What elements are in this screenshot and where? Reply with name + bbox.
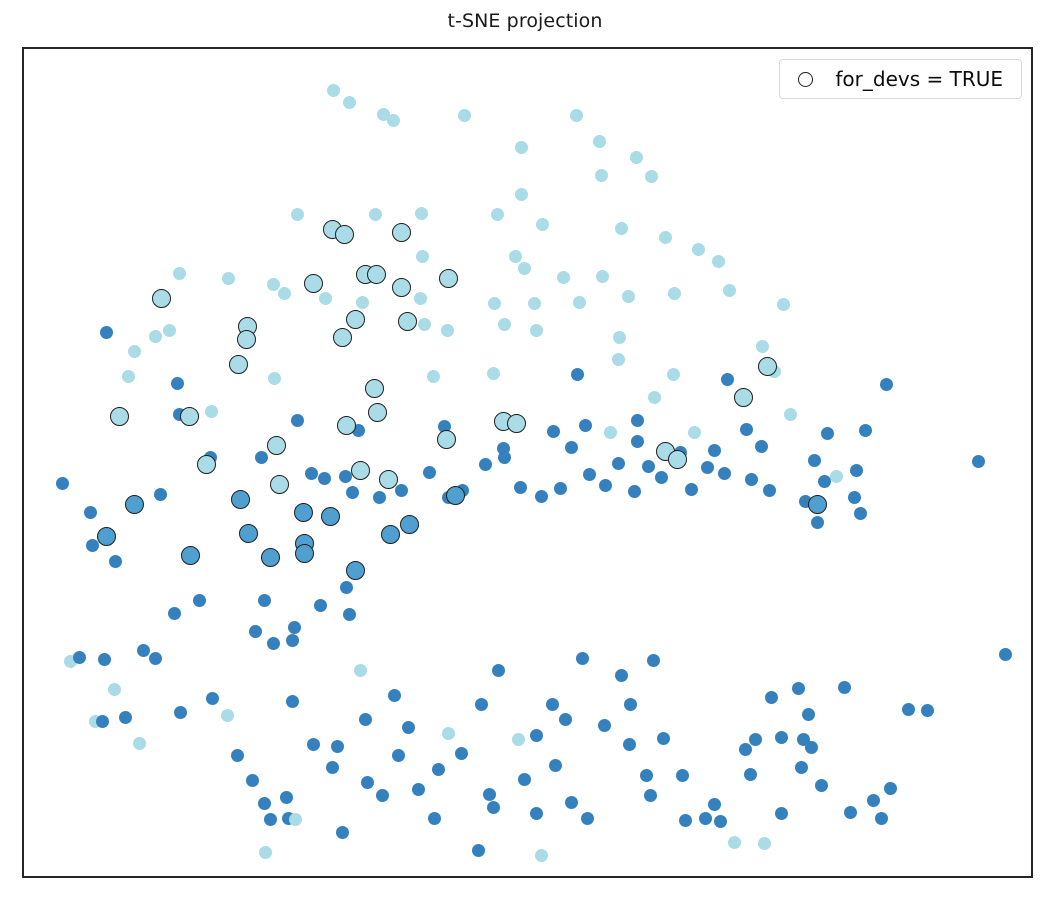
scatter-point (472, 844, 485, 857)
scatter-point (714, 815, 727, 828)
scatter-point (509, 250, 522, 263)
scatter-point (775, 807, 788, 820)
scatter-point (356, 296, 369, 309)
scatter-point (173, 267, 186, 280)
scatter-point (415, 207, 428, 220)
scatter-point (168, 607, 181, 620)
scatter-point (498, 318, 511, 331)
scatter-point-highlighted (346, 561, 365, 580)
scatter-point (972, 455, 985, 468)
scatter-point-highlighted (180, 407, 199, 426)
scatter-point (128, 345, 141, 358)
scatter-point-highlighted (365, 379, 384, 398)
plot-area: for_devs = TRUE (22, 47, 1033, 878)
scatter-point (530, 324, 543, 337)
scatter-point (549, 759, 562, 772)
scatter-point (319, 292, 332, 305)
scatter-point-highlighted (333, 328, 352, 347)
scatter-point (515, 141, 528, 154)
scatter-point (264, 813, 277, 826)
legend-entry-label: for_devs = TRUE (835, 67, 1007, 91)
scatter-point-highlighted (97, 527, 116, 546)
scatter-point (570, 109, 583, 122)
scatter-point (518, 773, 531, 786)
scatter-point (547, 425, 560, 438)
scatter-point (305, 467, 318, 480)
scatter-point (622, 290, 635, 303)
scatter-point-highlighted (346, 310, 365, 329)
scatter-point (149, 330, 162, 343)
scatter-point (108, 683, 121, 696)
scatter-point (428, 812, 441, 825)
scatter-point (291, 414, 304, 427)
scatter-point-highlighted (507, 414, 526, 433)
scatter-point (109, 555, 122, 568)
scatter-point (133, 737, 146, 750)
scatter-point (758, 837, 771, 850)
scatter-point (867, 794, 880, 807)
scatter-point-highlighted (379, 470, 398, 489)
scatter-point (902, 703, 915, 716)
scatter-point (777, 298, 790, 311)
scatter-point (612, 457, 625, 470)
scatter-point (581, 812, 594, 825)
scatter-point (286, 634, 299, 647)
scatter-point-highlighted (381, 525, 400, 544)
scatter-point (699, 812, 712, 825)
scatter-point (692, 243, 705, 256)
scatter-point (765, 691, 778, 704)
scatter-point-highlighted (368, 403, 387, 422)
scatter-point (56, 477, 69, 490)
scatter-point (815, 779, 828, 792)
scatter-point (554, 482, 567, 495)
scatter-point (414, 292, 427, 305)
scatter-point (359, 713, 372, 726)
scatter-point-highlighted (439, 269, 458, 288)
scatter-point (73, 651, 86, 664)
scatter-point (921, 704, 934, 717)
scatter-point (546, 698, 559, 711)
scatter-point (231, 749, 244, 762)
scatter-point (557, 271, 570, 284)
scatter-point-highlighted (337, 416, 356, 435)
scatter-point (122, 370, 135, 383)
scatter-point (286, 695, 299, 708)
scatter-point (667, 368, 680, 381)
scatter-point (278, 287, 291, 300)
scatter-point (432, 763, 445, 776)
scatter-point (631, 414, 644, 427)
scatter-point (193, 594, 206, 607)
scatter-point (205, 405, 218, 418)
scatter-point (811, 516, 824, 529)
scatter-point (565, 796, 578, 809)
scatter-point (268, 372, 281, 385)
scatter-point-highlighted (668, 450, 687, 469)
scatter-point (423, 466, 436, 479)
scatter-point (615, 222, 628, 235)
scatter-point (668, 287, 681, 300)
scatter-point (427, 370, 440, 383)
scatter-point (327, 84, 340, 97)
scatter-point-highlighted (734, 388, 753, 407)
scatter-point (246, 774, 259, 787)
scatter-point (418, 318, 431, 331)
scatter-point (535, 849, 548, 862)
scatter-point-highlighted (237, 330, 256, 349)
scatter-point (559, 713, 572, 726)
scatter-point (676, 769, 689, 782)
scatter-point (808, 454, 821, 467)
scatter-point (326, 761, 339, 774)
scatter-point (331, 740, 344, 753)
scatter-point-highlighted (392, 223, 411, 242)
scatter-point (573, 296, 586, 309)
scatter-point (339, 470, 352, 483)
legend[interactable]: for_devs = TRUE (779, 59, 1022, 99)
scatter-point (880, 378, 893, 391)
scatter-point (395, 484, 408, 497)
scatter-point (392, 749, 405, 762)
scatter-point-highlighted (351, 461, 370, 480)
scatter-point-highlighted (437, 430, 456, 449)
scatter-point (795, 761, 808, 774)
scatter-point (565, 441, 578, 454)
scatter-point (535, 490, 548, 503)
scatter-point (171, 377, 184, 390)
scatter-point (291, 208, 304, 221)
scatter-point-highlighted (321, 507, 340, 526)
scatter-point (343, 608, 356, 621)
scatter-point (512, 733, 525, 746)
scatter-point (402, 721, 415, 734)
scatter-point-highlighted (808, 495, 827, 514)
scatter-point (579, 419, 592, 432)
scatter-point (583, 468, 596, 481)
scatter-point (343, 96, 356, 109)
scatter-point (623, 738, 636, 751)
scatter-point (441, 324, 454, 337)
scatter-point (354, 664, 367, 677)
scatter-point (346, 486, 359, 499)
scatter-point (631, 435, 644, 448)
page-title: t-SNE projection (0, 10, 1050, 32)
scatter-point (615, 669, 628, 682)
scatter-point (612, 353, 625, 366)
scatter-point (688, 426, 701, 439)
scatter-point (875, 812, 888, 825)
scatter-point (595, 169, 608, 182)
scatter-point (487, 801, 500, 814)
scatter-point (645, 170, 658, 183)
scatter-point-highlighted (398, 312, 417, 331)
scatter-point-highlighted (392, 278, 411, 297)
scatter-point (222, 272, 235, 285)
scatter-point-highlighted (239, 524, 258, 543)
scatter-point (267, 637, 280, 650)
scatter-point (488, 297, 501, 310)
scatter-point (756, 340, 769, 353)
scatter-point (498, 451, 511, 464)
scatter-point (644, 789, 657, 802)
scatter-point (163, 324, 176, 337)
scatter-point-highlighted (181, 546, 200, 565)
scatter-point (479, 458, 492, 471)
scatter-point (340, 581, 353, 594)
scatter-points-layer (24, 49, 1031, 876)
scatter-point-highlighted (261, 548, 280, 567)
scatter-point (518, 262, 531, 275)
scatter-point (288, 621, 301, 634)
scatter-point (412, 783, 425, 796)
scatter-point (657, 732, 670, 745)
scatter-point (599, 479, 612, 492)
scatter-point (744, 768, 757, 781)
scatter-point (749, 733, 762, 746)
scatter-point (604, 426, 617, 439)
scatter-point (659, 231, 672, 244)
scatter-point (739, 743, 752, 756)
scatter-point (514, 481, 527, 494)
scatter-point (98, 653, 111, 666)
scatter-point (596, 270, 609, 283)
scatter-point (784, 408, 797, 421)
scatter-point (267, 278, 280, 291)
tsne-figure: t-SNE projection for_devs = TRUE (0, 0, 1050, 900)
scatter-point (84, 506, 97, 519)
scatter-point-highlighted (295, 544, 314, 563)
scatter-point-highlighted (197, 455, 216, 474)
scatter-point (455, 747, 468, 760)
scatter-point-highlighted (152, 289, 171, 308)
scatter-point (628, 485, 641, 498)
scatter-point (280, 791, 293, 804)
scatter-point-highlighted (270, 475, 289, 494)
scatter-point (458, 109, 471, 122)
scatter-point-highlighted (400, 515, 419, 534)
scatter-point (708, 444, 721, 457)
scatter-point-highlighted (110, 407, 129, 426)
scatter-point (844, 806, 857, 819)
scatter-point-highlighted (125, 495, 144, 514)
scatter-point (593, 135, 606, 148)
scatter-point (255, 451, 268, 464)
scatter-point (442, 727, 455, 740)
scatter-point (859, 424, 872, 437)
scatter-point-highlighted (335, 225, 354, 244)
scatter-point (491, 208, 504, 221)
scatter-point (206, 692, 219, 705)
scatter-point (763, 484, 776, 497)
scatter-point (416, 250, 429, 263)
scatter-point (249, 625, 262, 638)
scatter-point (598, 719, 611, 732)
scatter-point (530, 807, 543, 820)
scatter-point (655, 471, 668, 484)
scatter-point (483, 788, 496, 801)
scatter-point (100, 326, 113, 339)
scatter-point (854, 507, 867, 520)
scatter-point (775, 731, 788, 744)
scatter-point (119, 711, 132, 724)
scatter-point (721, 373, 734, 386)
scatter-point (149, 652, 162, 665)
scatter-point (848, 491, 861, 504)
scatter-point (755, 440, 768, 453)
scatter-point (838, 681, 851, 694)
scatter-point (571, 368, 584, 381)
scatter-point (258, 594, 271, 607)
scatter-point (492, 664, 505, 677)
scatter-point (388, 689, 401, 702)
scatter-point-highlighted (229, 355, 248, 374)
scatter-point (530, 729, 543, 742)
scatter-point (576, 652, 589, 665)
scatter-point (802, 708, 815, 721)
scatter-point (647, 654, 660, 667)
scatter-point (821, 427, 834, 440)
scatter-point (630, 151, 643, 164)
scatter-point (792, 682, 805, 695)
scatter-point (336, 826, 349, 839)
scatter-point (624, 698, 637, 711)
scatter-point (805, 741, 818, 754)
scatter-point (259, 846, 272, 859)
scatter-point (740, 423, 753, 436)
scatter-point (86, 539, 99, 552)
scatter-point (318, 472, 331, 485)
scatter-point (361, 776, 374, 789)
scatter-point (515, 188, 528, 201)
scatter-point (640, 769, 653, 782)
scatter-point (642, 460, 655, 473)
scatter-point (475, 698, 488, 711)
scatter-point (528, 297, 541, 310)
circle-outline-icon (798, 72, 813, 87)
scatter-point (96, 715, 109, 728)
scatter-point-highlighted (231, 490, 250, 509)
scatter-point (487, 367, 500, 380)
scatter-point (830, 470, 843, 483)
scatter-point (258, 797, 271, 810)
scatter-point (174, 706, 187, 719)
scatter-point (850, 464, 863, 477)
scatter-point (818, 475, 831, 488)
scatter-point (679, 814, 692, 827)
scatter-point (314, 599, 327, 612)
scatter-point (536, 218, 549, 231)
scatter-point (708, 798, 721, 811)
scatter-point (999, 648, 1012, 661)
scatter-point (685, 483, 698, 496)
scatter-point (154, 488, 167, 501)
scatter-point (221, 709, 234, 722)
scatter-point (613, 331, 626, 344)
scatter-point (723, 284, 736, 297)
scatter-point (373, 491, 386, 504)
scatter-point (137, 644, 150, 657)
scatter-point (701, 461, 714, 474)
scatter-point-highlighted (294, 503, 313, 522)
scatter-point-highlighted (367, 265, 386, 284)
scatter-point (289, 813, 302, 826)
scatter-point (369, 208, 382, 221)
scatter-point (387, 114, 400, 127)
scatter-point (728, 836, 741, 849)
scatter-point (745, 473, 758, 486)
scatter-point (712, 255, 725, 268)
scatter-point-highlighted (267, 436, 286, 455)
scatter-point-highlighted (446, 486, 465, 505)
scatter-point-highlighted (304, 274, 323, 293)
scatter-point (718, 467, 731, 480)
scatter-point (376, 789, 389, 802)
scatter-point-highlighted (758, 357, 777, 376)
scatter-point (884, 782, 897, 795)
scatter-point (648, 391, 661, 404)
scatter-point (307, 738, 320, 751)
